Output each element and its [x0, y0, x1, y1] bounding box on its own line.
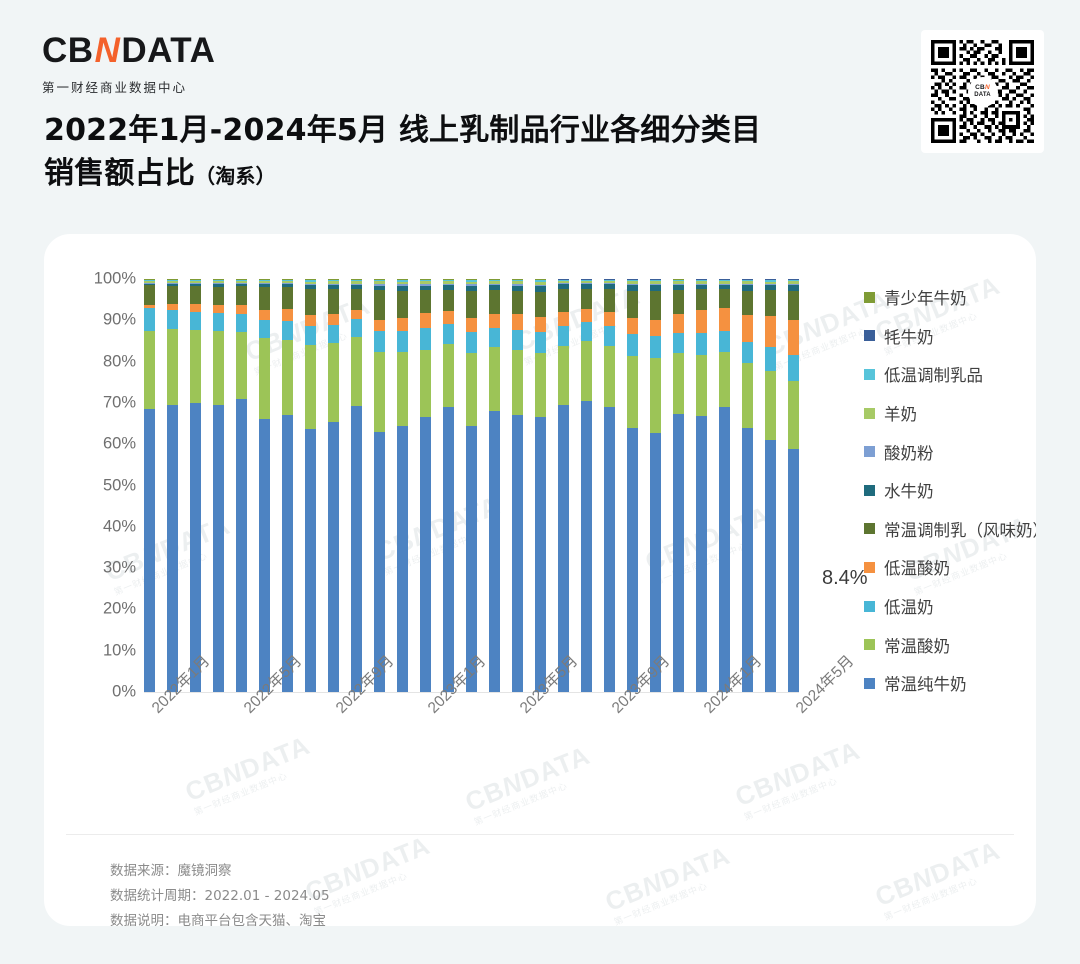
bar-segment	[489, 314, 500, 328]
legend-color-swatch	[864, 330, 875, 341]
bar-segment	[535, 292, 546, 318]
bar-segment	[236, 305, 247, 314]
bar-stack[interactable]	[351, 279, 362, 692]
bar-segment	[627, 334, 638, 355]
bar-segment	[236, 314, 247, 332]
bar-segment	[443, 324, 454, 344]
footer-divider	[66, 834, 1014, 835]
bar-segment	[282, 340, 293, 416]
legend-label: 低温酸奶	[884, 555, 950, 579]
bar-segment	[282, 309, 293, 321]
bar-segment	[328, 289, 339, 314]
bar-segment	[558, 326, 569, 346]
bar-segment	[144, 331, 155, 409]
legend-item[interactable]: 低温调制乳品	[864, 355, 1036, 394]
bar-segment	[144, 409, 155, 692]
bar-segment	[673, 414, 684, 692]
legend-label: 常温调制乳（风味奶）	[884, 517, 1036, 541]
qr-code[interactable]: CBN DATA	[921, 30, 1044, 153]
bar-stack[interactable]	[190, 279, 201, 692]
bar-segment	[167, 304, 178, 311]
bar-segment	[190, 403, 201, 692]
bar-segment	[236, 332, 247, 399]
bar-segment	[742, 342, 753, 363]
bar-segment	[765, 290, 776, 316]
bar-segment	[696, 310, 707, 333]
bar-segment	[788, 449, 799, 692]
bar-segment	[443, 290, 454, 311]
bar-segment	[420, 350, 431, 417]
bar-stack[interactable]	[627, 279, 638, 692]
bar-segment	[213, 305, 224, 314]
footer-notes: 数据来源：魔镜洞察 数据统计周期：2022.01 - 2024.05 数据说明：…	[110, 859, 330, 926]
bar-segment	[305, 326, 316, 345]
legend-item[interactable]: 常温纯牛奶	[864, 664, 1036, 703]
legend-item[interactable]: 常温酸奶	[864, 625, 1036, 664]
bar-stack[interactable]	[742, 279, 753, 692]
bar-stack[interactable]	[673, 279, 684, 692]
bar-segment	[397, 318, 408, 331]
bar-segment	[282, 321, 293, 340]
bar-stack[interactable]	[650, 279, 661, 692]
bar-segment	[213, 287, 224, 305]
legend-color-swatch	[864, 639, 875, 650]
bar-segment	[719, 331, 730, 352]
bar-segment	[719, 308, 730, 332]
bar-segment	[581, 289, 592, 309]
bar-segment	[604, 289, 615, 312]
legend-label: 酸奶粉	[884, 440, 934, 464]
y-axis-tick: 80%	[64, 352, 136, 371]
bar-segment	[328, 314, 339, 325]
bar-segment	[627, 428, 638, 692]
bar-segment	[742, 291, 753, 315]
bar-segment	[328, 422, 339, 693]
bar-segment	[604, 407, 615, 692]
bar-segment	[535, 417, 546, 692]
page-title-line1: 2022年1月-2024年5月 线上乳制品行业各细分类目	[44, 113, 761, 148]
legend-color-swatch	[864, 562, 875, 573]
legend-color-swatch	[864, 446, 875, 457]
bar-segment	[581, 341, 592, 401]
y-axis-tick: 100%	[64, 270, 136, 289]
bar-segment	[259, 310, 270, 320]
footnote-source: 数据来源：魔镜洞察	[110, 859, 330, 884]
bar-stack[interactable]	[512, 279, 523, 692]
bar-segment	[190, 312, 201, 330]
bar-segment	[696, 416, 707, 692]
bar-segment	[719, 352, 730, 407]
legend-label: 羊奶	[884, 401, 917, 425]
bar-segment	[673, 290, 684, 314]
bar-segment	[443, 311, 454, 324]
bar-stack[interactable]	[236, 279, 247, 692]
bar-segment	[673, 333, 684, 354]
bar-segment	[765, 347, 776, 371]
bar-stack[interactable]	[282, 279, 293, 692]
legend-color-swatch	[864, 485, 875, 496]
bar-stack[interactable]	[581, 279, 592, 692]
bar-segment	[558, 312, 569, 326]
qr-logo-line2: DATA	[974, 92, 991, 98]
legend-color-swatch	[864, 601, 875, 612]
bar-segment	[696, 289, 707, 310]
bar-segment	[696, 333, 707, 355]
bar-segment	[190, 304, 201, 312]
bar-segment	[535, 332, 546, 353]
bars-container	[144, 279, 799, 693]
bar-stack[interactable]	[328, 279, 339, 692]
y-axis-tick: 10%	[64, 641, 136, 660]
footnote-period: 数据统计周期：2022.01 - 2024.05	[110, 884, 330, 909]
bar-segment	[765, 316, 776, 347]
bar-segment	[420, 328, 431, 350]
chart-card: CBNDATA第一财经商业数据中心CBNDATA第一财经商业数据中心CBNDAT…	[44, 234, 1036, 926]
bar-stack[interactable]	[696, 279, 707, 692]
bar-segment	[558, 405, 569, 692]
page-title: 2022年1月-2024年5月 线上乳制品行业各细分类目 销售额占比（淘系）	[44, 110, 884, 195]
bar-stack[interactable]	[765, 279, 776, 692]
bar-segment	[374, 290, 385, 320]
logo-subtitle: 第一财经商业数据中心	[42, 77, 215, 96]
legend-color-swatch	[864, 678, 875, 689]
page-header: CB N DATA 第一财经商业数据中心	[0, 0, 1080, 210]
bar-stack[interactable]	[719, 279, 730, 692]
bar-segment	[259, 338, 270, 419]
bar-segment	[558, 289, 569, 312]
bar-segment	[627, 318, 638, 334]
legend-label: 常温酸奶	[884, 633, 950, 657]
bar-segment	[305, 315, 316, 326]
bar-segment	[788, 291, 799, 320]
legend-label: 水牛奶	[884, 478, 934, 502]
bar-segment	[351, 319, 362, 336]
bar-segment	[351, 406, 362, 692]
legend-item[interactable]: 常温调制乳（风味奶）	[864, 510, 1036, 549]
bar-segment	[489, 328, 500, 347]
bar-segment	[374, 320, 385, 332]
legend-color-swatch	[864, 408, 875, 419]
bar-segment	[535, 317, 546, 332]
bar-segment	[788, 320, 799, 355]
bar-segment	[466, 332, 477, 353]
bar-segment	[213, 313, 224, 331]
bar-segment	[466, 291, 477, 318]
bar-segment	[627, 356, 638, 428]
legend-color-swatch	[864, 292, 875, 303]
legend-item[interactable]: 水牛奶	[864, 471, 1036, 510]
bar-segment	[696, 355, 707, 416]
bar-segment	[420, 313, 431, 328]
bar-segment	[397, 291, 408, 319]
legend-color-swatch	[864, 369, 875, 380]
legend-item[interactable]: 低温奶	[864, 587, 1036, 626]
bar-segment	[167, 405, 178, 692]
bar-segment	[581, 322, 592, 341]
bar-segment	[765, 371, 776, 440]
y-axis: 100%90%80%70%60%50%40%30%20%10%0%	[64, 234, 136, 794]
bar-stack[interactable]	[604, 279, 615, 692]
bar-segment	[719, 407, 730, 692]
bar-stack[interactable]	[213, 279, 224, 692]
bar-segment	[489, 290, 500, 314]
legend-item[interactable]: 牦牛奶	[864, 317, 1036, 356]
bar-segment	[719, 289, 730, 307]
qr-center-logo: CBN DATA	[968, 77, 998, 107]
logo-wordmark: CB N DATA	[42, 33, 215, 68]
legend-label: 低温调制乳品	[884, 362, 983, 386]
bar-stack[interactable]	[489, 279, 500, 692]
bar-stack[interactable]	[374, 279, 385, 692]
y-axis-tick: 90%	[64, 311, 136, 330]
bar-segment	[627, 291, 638, 318]
bar-segment	[213, 331, 224, 405]
logo-text-data: DATA	[121, 33, 215, 68]
bar-segment	[604, 346, 615, 408]
bar-segment	[650, 320, 661, 337]
bar-segment	[374, 331, 385, 352]
bar-segment	[351, 289, 362, 310]
bar-segment	[650, 358, 661, 432]
bar-segment	[535, 353, 546, 417]
bar-stack[interactable]	[167, 279, 178, 692]
legend-label: 青少年牛奶	[884, 285, 967, 309]
qr-code-matrix: CBN DATA	[931, 40, 1034, 143]
y-axis-tick: 40%	[64, 517, 136, 536]
bar-segment	[765, 440, 776, 692]
bar-stack[interactable]	[466, 279, 477, 692]
y-axis-tick: 60%	[64, 435, 136, 454]
legend-color-swatch	[864, 523, 875, 534]
logo-text-cb: CB	[42, 33, 94, 68]
bar-segment	[581, 401, 592, 692]
legend-item[interactable]: 羊奶	[864, 394, 1036, 433]
y-axis-tick: 30%	[64, 559, 136, 578]
bar-segment	[443, 407, 454, 692]
legend-item[interactable]: 青少年牛奶	[864, 278, 1036, 317]
bar-segment	[282, 287, 293, 309]
bar-stack[interactable]	[443, 279, 454, 692]
qr-logo-line1: CBN	[975, 85, 990, 92]
bar-segment	[512, 314, 523, 329]
page-title-line2: 销售额占比	[44, 156, 195, 191]
bar-segment	[305, 289, 316, 315]
bar-stack[interactable]	[305, 279, 316, 692]
bar-segment	[259, 287, 270, 309]
bar-segment	[489, 347, 500, 411]
bar-segment	[167, 310, 178, 329]
y-axis-tick: 70%	[64, 393, 136, 412]
watermark: CBNDATA第一财经商业数据中心	[871, 836, 1008, 923]
bar-segment	[604, 312, 615, 326]
x-axis: 2022年1月2022年5月2022年9月2023年1月2023年5月2023年…	[144, 694, 799, 794]
bar-segment	[351, 337, 362, 406]
bar-stack[interactable]	[144, 279, 155, 692]
bar-segment	[443, 344, 454, 408]
bar-segment	[420, 417, 431, 692]
bar-segment	[512, 415, 523, 692]
bar-segment	[466, 318, 477, 332]
bar-stack[interactable]	[397, 279, 408, 692]
bar-segment	[742, 315, 753, 341]
bar-segment	[512, 350, 523, 415]
bar-segment	[374, 352, 385, 432]
bar-segment	[788, 355, 799, 382]
bar-stack[interactable]	[535, 279, 546, 692]
bar-segment	[305, 345, 316, 429]
bar-stack[interactable]	[420, 279, 431, 692]
watermark: CBNDATA第一财经商业数据中心	[601, 841, 738, 926]
bar-stack[interactable]	[259, 279, 270, 692]
page-title-suffix: （淘系）	[195, 164, 276, 188]
bar-segment	[213, 405, 224, 692]
bar-segment	[742, 363, 753, 427]
bar-segment	[351, 310, 362, 320]
bar-segment	[328, 343, 339, 422]
bar-segment	[167, 329, 178, 404]
legend-item[interactable]: 酸奶粉	[864, 432, 1036, 471]
bar-segment	[420, 290, 431, 313]
legend-label: 牦牛奶	[884, 324, 934, 348]
bar-segment	[581, 309, 592, 322]
logo-text-n: N	[94, 33, 122, 68]
bar-segment	[650, 336, 661, 358]
bar-segment	[397, 331, 408, 351]
y-axis-tick: 0%	[64, 683, 136, 702]
bar-stack[interactable]	[788, 279, 799, 692]
bar-segment	[144, 285, 155, 306]
bar-segment	[673, 314, 684, 333]
bar-segment	[167, 286, 178, 303]
bar-segment	[512, 291, 523, 315]
bar-segment	[328, 325, 339, 343]
value-callout: 8.4%	[822, 567, 868, 590]
bar-segment	[604, 326, 615, 345]
bar-stack[interactable]	[558, 279, 569, 692]
bar-segment	[650, 291, 661, 320]
bar-segment	[259, 320, 270, 338]
bar-segment	[466, 353, 477, 426]
bar-segment	[190, 286, 201, 303]
bar-segment	[305, 429, 316, 692]
chart-legend: 青少年牛奶牦牛奶低温调制乳品羊奶酸奶粉水牛奶常温调制乳（风味奶）低温酸奶低温奶常…	[864, 278, 1036, 703]
bar-segment	[397, 352, 408, 426]
bar-segment	[236, 399, 247, 692]
bar-segment	[673, 353, 684, 414]
bar-segment	[558, 346, 569, 405]
bar-segment	[788, 381, 799, 449]
footnote-note: 数据说明：电商平台包含天猫、淘宝	[110, 909, 330, 926]
x-axis-tick: 2024年5月	[790, 650, 858, 718]
brand-logo: CB N DATA 第一财经商业数据中心	[42, 33, 215, 96]
y-axis-tick: 50%	[64, 476, 136, 495]
bar-segment	[512, 330, 523, 351]
bar-segment	[236, 286, 247, 304]
legend-label: 常温纯牛奶	[884, 671, 967, 695]
bar-segment	[190, 330, 201, 403]
bar-segment	[489, 411, 500, 692]
legend-item[interactable]: 低温酸奶	[864, 548, 1036, 587]
bar-segment	[144, 308, 155, 331]
bar-segment	[259, 419, 270, 692]
bar-segment	[397, 426, 408, 692]
legend-label: 低温奶	[884, 594, 934, 618]
y-axis-tick: 20%	[64, 600, 136, 619]
